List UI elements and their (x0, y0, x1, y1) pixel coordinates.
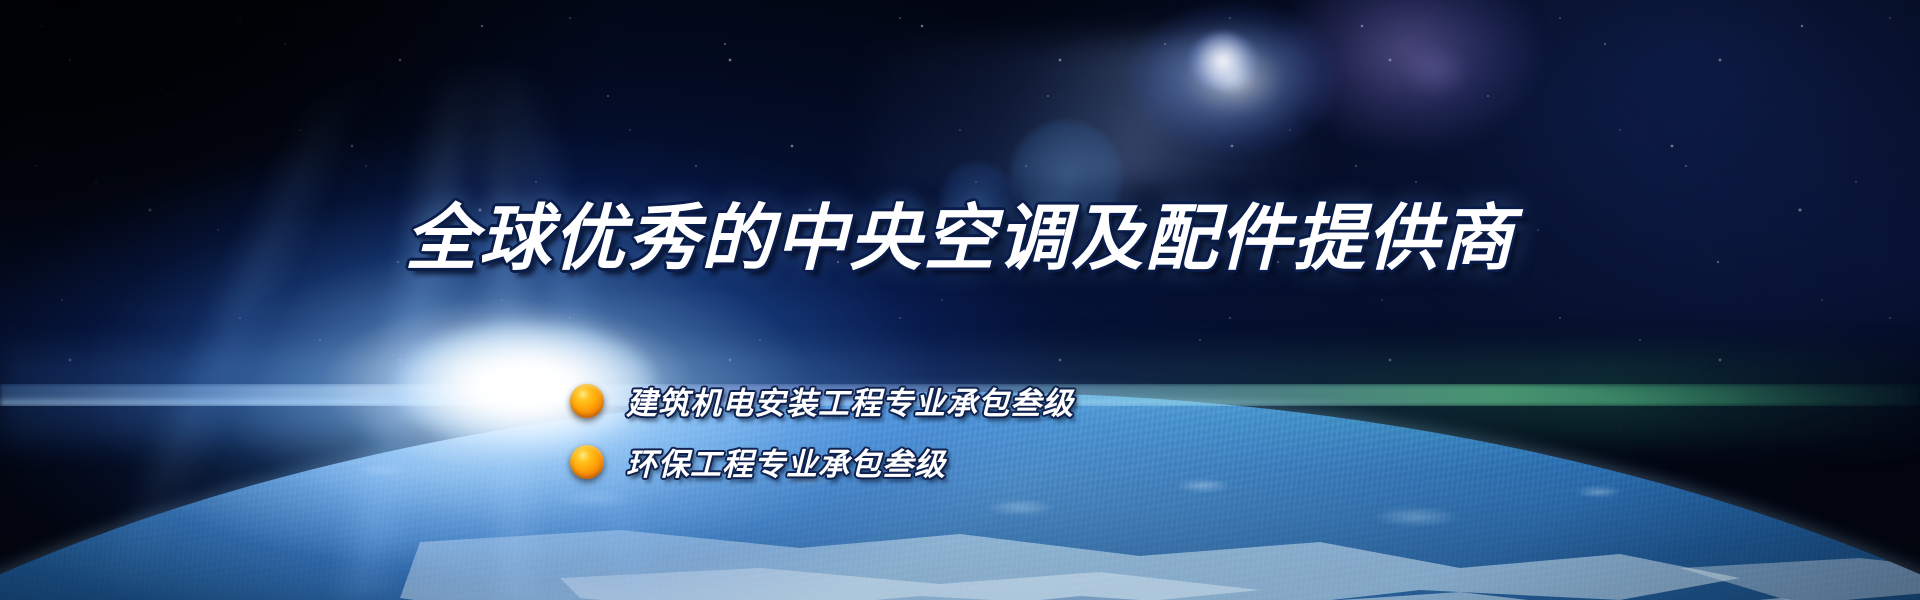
bullet-label: 环保工程专业承包叁级 (626, 439, 946, 484)
banner-bullet-list: 建筑机电安装工程专业承包叁级 环保工程专业承包叁级 (570, 378, 1074, 484)
orange-dot-bullet-icon (570, 384, 604, 418)
list-item: 建筑机电安装工程专业承包叁级 (570, 378, 1074, 423)
list-item: 环保工程专业承包叁级 (570, 439, 1074, 484)
banner-headline: 全球优秀的中央空调及配件提供商 (0, 203, 1920, 275)
orange-dot-bullet-icon (570, 445, 604, 479)
bullet-label: 建筑机电安装工程专业承包叁级 (626, 378, 1074, 423)
banner-content: 全球优秀的中央空调及配件提供商 建筑机电安装工程专业承包叁级 环保工程专业承包叁… (0, 0, 1920, 600)
hero-banner: 全球优秀的中央空调及配件提供商 建筑机电安装工程专业承包叁级 环保工程专业承包叁… (0, 0, 1920, 600)
